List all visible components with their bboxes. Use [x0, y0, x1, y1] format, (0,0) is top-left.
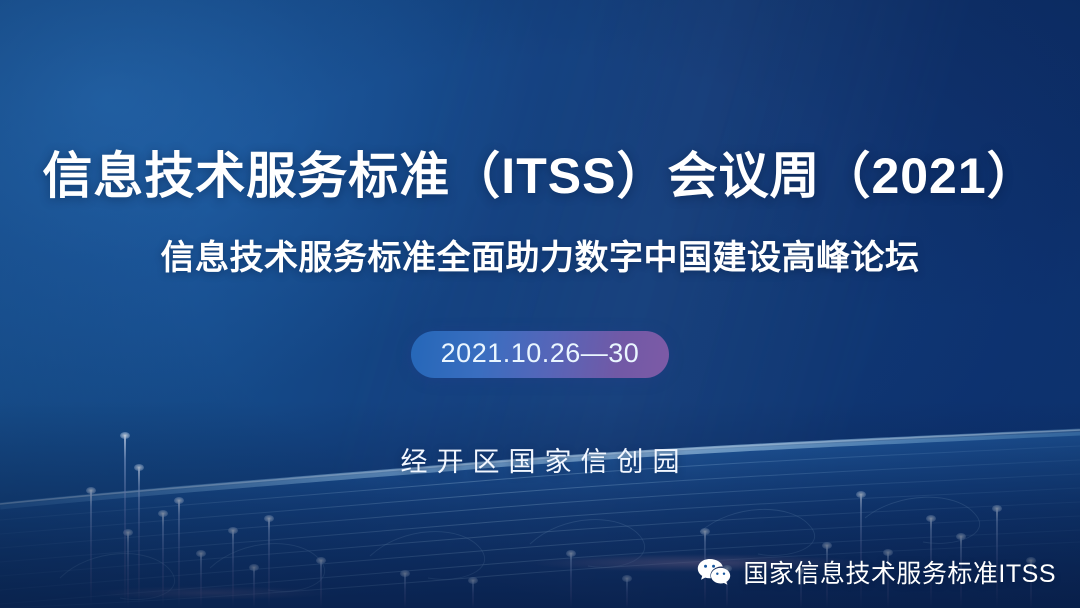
- date-badge-container: 2021.10.26—30: [0, 331, 1080, 378]
- event-date-badge: 2021.10.26—30: [411, 331, 670, 378]
- poster-content: 信息技术服务标准（ITSS）会议周（2021） 信息技术服务标准全面助力数字中国…: [0, 0, 1080, 608]
- wechat-icon-svg: [696, 557, 732, 588]
- wechat-icon: [696, 557, 732, 588]
- event-venue: 经开区国家信创园: [0, 440, 1080, 479]
- event-poster: 信息技术服务标准（ITSS）会议周（2021） 信息技术服务标准全面助力数字中国…: [0, 0, 1080, 608]
- page-subtitle: 信息技术服务标准全面助力数字中国建设高峰论坛: [0, 230, 1080, 279]
- wechat-watermark: 国家信息技术服务标准ITSS: [696, 554, 1056, 590]
- wechat-account-name: 国家信息技术服务标准ITSS: [743, 554, 1056, 590]
- page-title: 信息技术服务标准（ITSS）会议周（2021）: [0, 148, 1080, 204]
